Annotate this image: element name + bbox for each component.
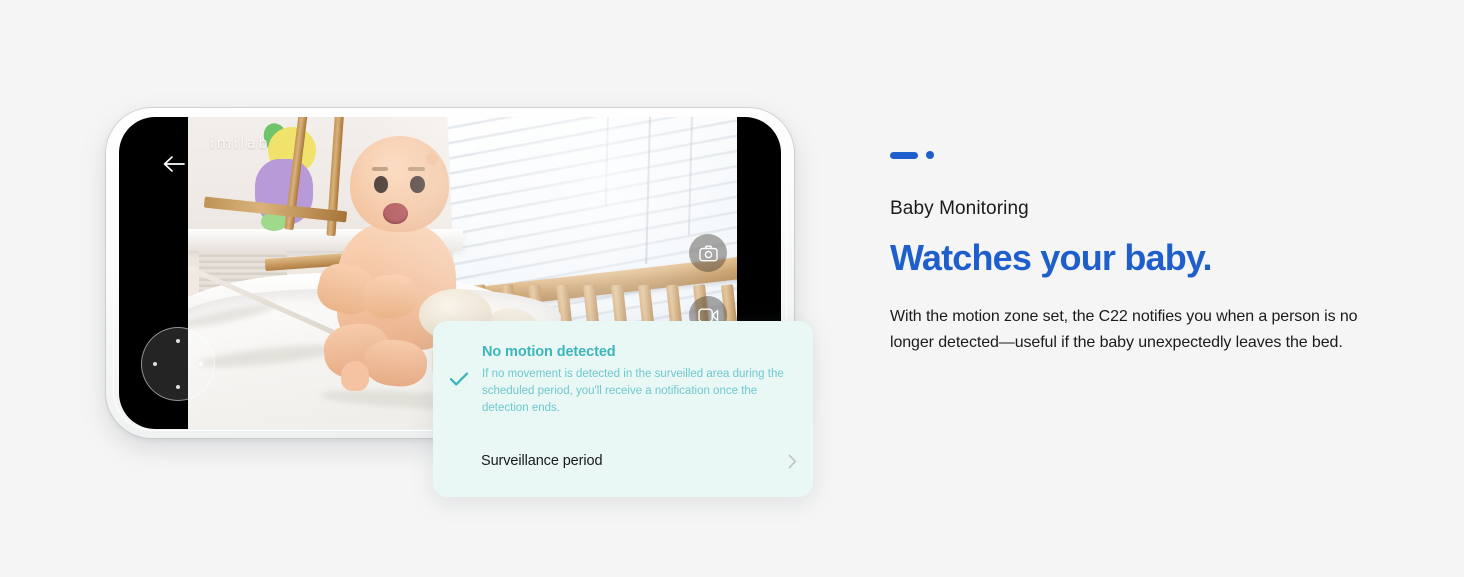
dpad-joystick[interactable] [141,327,215,401]
page-stage: imilab [0,0,1464,577]
surveillance-period-label: Surveillance period [481,453,788,469]
joystick-dot-right[interactable] [199,362,203,366]
camera-brand-watermark: imilab [210,134,270,152]
notification-body: If no movement is detected in the survei… [482,366,807,418]
pager-indicator-active[interactable] [890,152,918,159]
feature-headline: Watches your baby. [890,238,1390,278]
joystick-dot-down[interactable] [176,385,180,389]
notification-text: No motion detected If no movement is det… [477,343,807,418]
joystick-dot-left[interactable] [153,362,157,366]
feature-paragraph: With the motion zone set, the C22 notifi… [890,304,1380,358]
pager-indicator-2[interactable] [926,151,934,159]
check-icon [449,343,477,387]
joystick-dot-up[interactable] [176,339,180,343]
notification-status-block: No motion detected If no movement is det… [433,343,807,418]
surveillance-period-row[interactable]: Surveillance period [433,441,813,481]
camera-icon[interactable] [689,234,727,272]
carousel-pager[interactable] [890,150,1390,160]
chevron-right-icon [788,454,797,469]
back-arrow-icon[interactable] [161,151,187,177]
notification-card: No motion detected If no movement is det… [433,321,813,497]
notification-title: No motion detected [482,343,807,362]
feature-copy-block: Baby Monitoring Watches your baby. With … [890,150,1390,357]
feature-eyebrow: Baby Monitoring [890,198,1390,220]
